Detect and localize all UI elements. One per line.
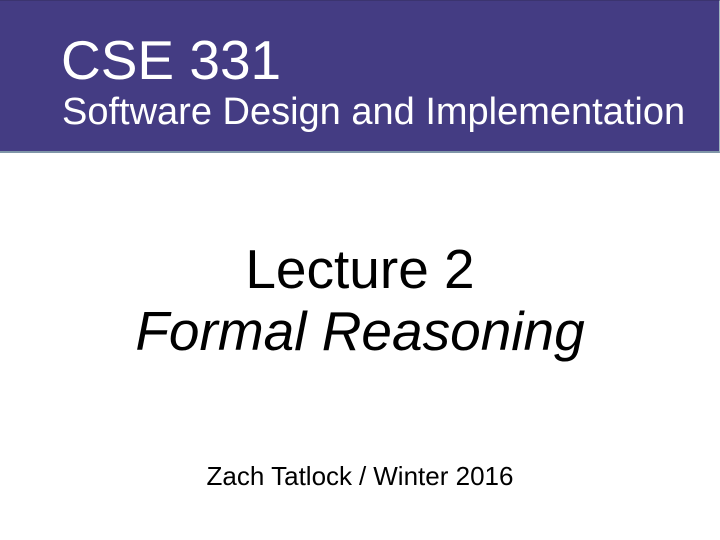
- byline-instructor: Zach Tatlock: [207, 461, 352, 491]
- slide-header-band: CSE 331 Software Design and Implementati…: [0, 0, 720, 153]
- lecture-number: Lecture 2: [0, 238, 720, 300]
- lecture-topic: Formal Reasoning: [0, 300, 720, 362]
- header-text-group: CSE 331 Software Design and Implementati…: [61, 1, 719, 151]
- byline: Zach Tatlock/Winter 2016: [0, 461, 720, 491]
- byline-separator: /: [352, 461, 373, 491]
- lecture-title-block: Lecture 2 Formal Reasoning: [0, 238, 720, 362]
- course-subtitle: Software Design and Implementation: [62, 91, 685, 133]
- course-code: CSE 331: [61, 31, 281, 89]
- byline-term: Winter 2016: [373, 461, 513, 491]
- title-slide: CSE 331 Software Design and Implementati…: [0, 0, 720, 540]
